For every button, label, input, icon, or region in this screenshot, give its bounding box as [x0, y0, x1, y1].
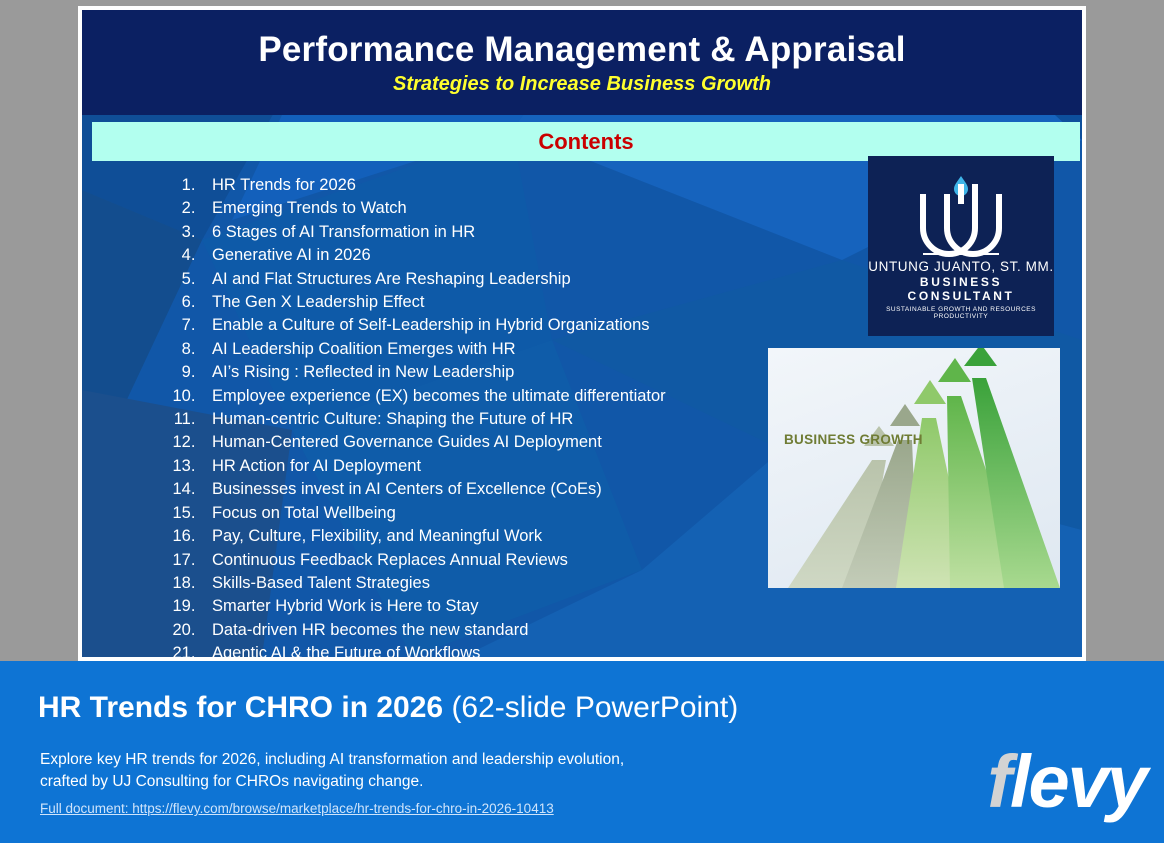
contents-list-item: Businesses invest in AI Centers of Excel… [200, 478, 840, 501]
contents-list-item: Employee experience (EX) becomes the ult… [200, 385, 840, 408]
consultant-logo-card: UNTUNG JUANTO, ST. MM. BUSINESS CONSULTA… [868, 156, 1054, 336]
contents-list-item: AI Leadership Coalition Emerges with HR [200, 338, 840, 361]
consultant-name: UNTUNG JUANTO, ST. MM. [868, 259, 1054, 274]
growth-label: BUSINESS GROWTH [784, 432, 923, 447]
consultant-tagline: SUSTAINABLE GROWTH AND RESOURCES PRODUCT… [868, 306, 1054, 320]
contents-list-item: HR Trends for 2026 [200, 174, 840, 197]
uj-monogram-icon [868, 170, 1054, 266]
slide-container: Performance Management & Appraisal Strat… [78, 6, 1086, 661]
contents-list-item: Skills-Based Talent Strategies [200, 572, 840, 595]
document-title: HR Trends for CHRO in 2026 (62-slide Pow… [38, 691, 738, 725]
contents-list-item: Data-driven HR becomes the new standard [200, 619, 840, 642]
contents-list-item: Human-centric Culture: Shaping the Futur… [200, 408, 840, 431]
flevy-banner: HR Trends for CHRO in 2026 (62-slide Pow… [0, 661, 1164, 843]
contents-list-item: HR Action for AI Deployment [200, 455, 840, 478]
slide: Performance Management & Appraisal Strat… [82, 10, 1082, 657]
contents-list-item: Smarter Hybrid Work is Here to Stay [200, 595, 840, 618]
document-link[interactable]: Full document: https://flevy.com/browse/… [40, 801, 554, 816]
slide-title-band: Performance Management & Appraisal Strat… [82, 10, 1082, 115]
growth-arrows-graphic [768, 348, 1060, 588]
consultant-role: BUSINESS CONSULTANT [868, 275, 1054, 303]
contents-list-item: Agentic AI & the Future of Workflows [200, 642, 840, 657]
contents-list-item: Pay, Culture, Flexibility, and Meaningfu… [200, 525, 840, 548]
document-slide-count: (62-slide PowerPoint) [451, 691, 738, 724]
contents-list-item: Continuous Feedback Replaces Annual Revi… [200, 549, 840, 572]
consultant-logo-text: UNTUNG JUANTO, ST. MM. BUSINESS CONSULTA… [868, 259, 1054, 320]
contents-header-label: Contents [538, 129, 633, 155]
contents-list-item: Generative AI in 2026 [200, 244, 840, 267]
contents-list-item: Focus on Total Wellbeing [200, 502, 840, 525]
contents-list-item: Human-Centered Governance Guides AI Depl… [200, 431, 840, 454]
flevy-logo[interactable]: flevy [987, 745, 1146, 819]
business-growth-image: BUSINESS GROWTH [768, 348, 1060, 588]
contents-list-item: Enable a Culture of Self-Leadership in H… [200, 314, 840, 337]
document-description: Explore key HR trends for 2026, includin… [40, 749, 624, 793]
slide-subtitle: Strategies to Increase Business Growth [82, 69, 1082, 96]
contents-list-item: The Gen X Leadership Effect [200, 291, 840, 314]
contents-list-item: AI and Flat Structures Are Reshaping Lea… [200, 268, 840, 291]
contents-list-item: AI’s Rising : Reflected in New Leadershi… [200, 361, 840, 384]
document-title-strong: HR Trends for CHRO in 2026 [38, 691, 443, 724]
contents-list-item: 6 Stages of AI Transformation in HR [200, 221, 840, 244]
contents-list: HR Trends for 2026Emerging Trends to Wat… [160, 174, 840, 657]
slide-title: Performance Management & Appraisal [82, 10, 1082, 69]
contents-list-item: Emerging Trends to Watch [200, 197, 840, 220]
